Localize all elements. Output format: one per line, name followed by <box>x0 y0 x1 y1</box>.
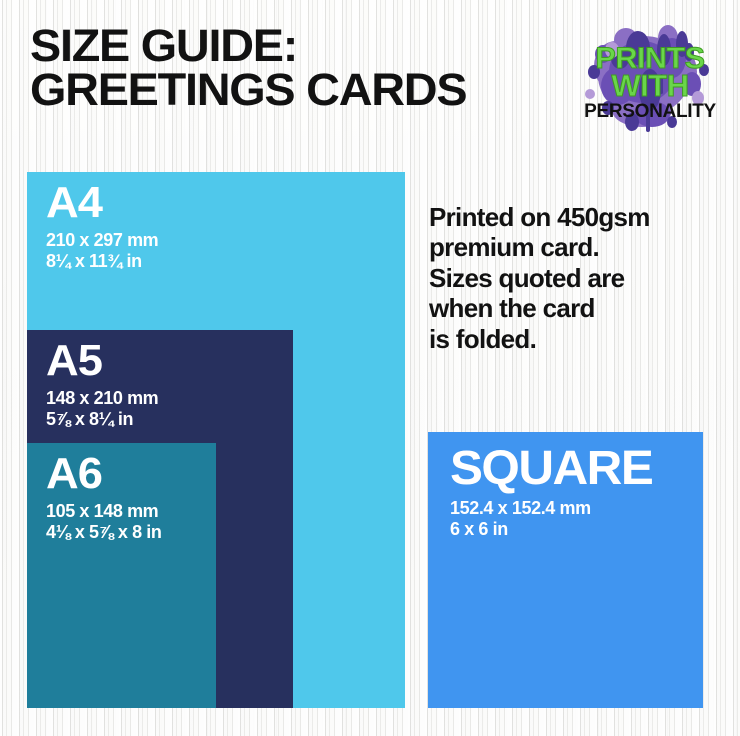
print-note-line-1: Printed on 450gsm <box>429 202 719 232</box>
page-title: Size Guide: Greetings Cards <box>30 24 519 112</box>
print-note-line-3: Sizes quoted are <box>429 263 719 293</box>
logo-line-with: With <box>572 70 728 101</box>
size-block-square-label: Square 152.4 x 152.4 mm 6 x 6 in <box>450 446 646 540</box>
size-inches-a6: 4⅛ x 5⅞ x 8 in <box>46 522 161 543</box>
page-title-line-1: Size Guide: <box>30 24 519 68</box>
print-note-line-2: premium card. <box>429 232 719 262</box>
logo-line-personality: Personality <box>572 102 728 121</box>
size-mm-a5: 148 x 210 mm <box>46 388 158 409</box>
page-title-line-2: Greetings Cards <box>30 68 519 112</box>
print-note: Printed on 450gsm premium card. Sizes qu… <box>429 202 719 354</box>
print-note-line-4: when the card <box>429 293 719 323</box>
size-mm-a6: 105 x 148 mm <box>46 501 161 522</box>
size-name-a5: A5 <box>46 340 162 382</box>
size-block-square: Square 152.4 x 152.4 mm 6 x 6 in <box>428 432 703 708</box>
size-block-a6-label: A6 105 x 148 mm 4⅛ x 5⅞ x 8 in <box>46 453 161 543</box>
size-guide-poster: Size Guide: Greetings Cards <box>0 0 740 736</box>
size-name-a6: A6 <box>46 453 165 495</box>
size-block-a6: A6 105 x 148 mm 4⅛ x 5⅞ x 8 in <box>27 443 216 708</box>
size-mm-a4: 210 x 297 mm <box>46 230 158 251</box>
size-inches-a5: 5⅞ x 8¼ in <box>46 409 158 430</box>
size-inches-square: 6 x 6 in <box>450 519 646 540</box>
brand-logo: Prints With Personality <box>572 14 728 139</box>
size-block-a4-label: A4 210 x 297 mm 8¼ x 11¾ in <box>46 182 158 272</box>
size-block-a5-label: A5 148 x 210 mm 5⅞ x 8¼ in <box>46 340 158 430</box>
size-name-square: Square <box>450 446 652 492</box>
size-mm-square: 152.4 x 152.4 mm <box>450 498 646 519</box>
size-name-a4: A4 <box>46 182 162 224</box>
size-inches-a4: 8¼ x 11¾ in <box>46 251 158 272</box>
print-note-line-5: is folded. <box>429 324 719 354</box>
logo-text: Prints With Personality <box>572 14 728 139</box>
